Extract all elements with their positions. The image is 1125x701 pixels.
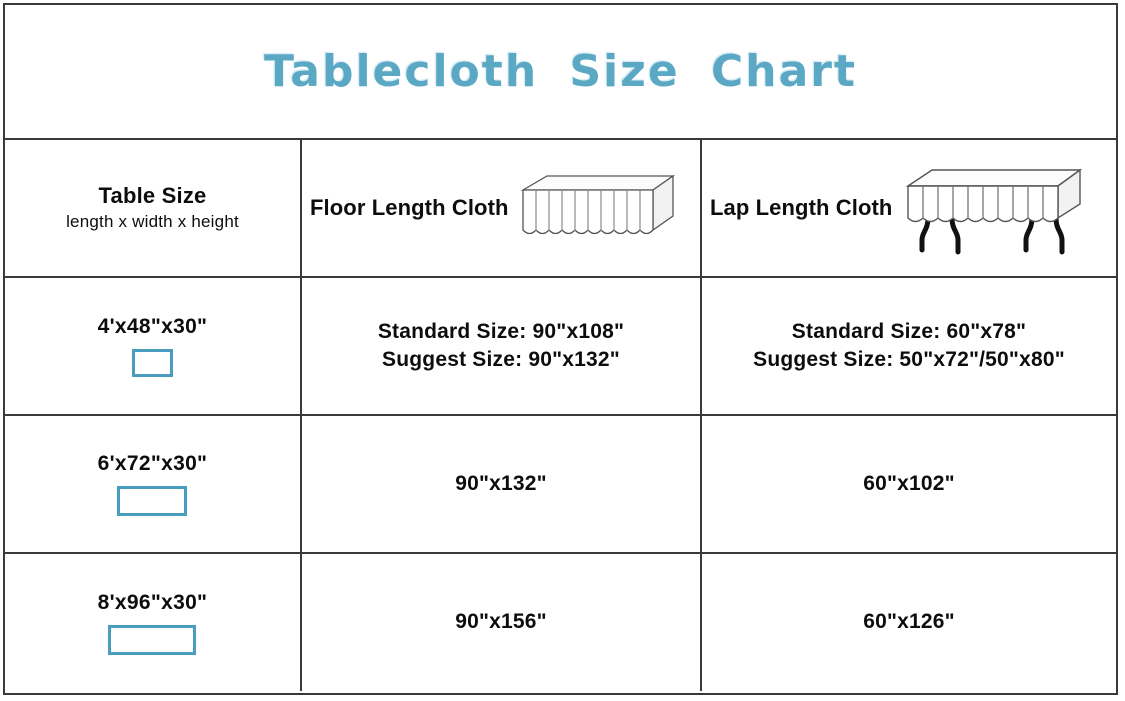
table-row: 8'x96"x30" 90"x156" 60"x126": [5, 554, 1116, 691]
table-header-row: Table Size length x width x height Floor…: [5, 140, 1116, 278]
lap-length-value: 60"x126": [863, 608, 955, 636]
cell-table-size: 8'x96"x30": [5, 554, 302, 691]
page-title: Tablecloth Size Chart: [264, 46, 857, 97]
lap-length-value: Standard Size: 60"x78" Suggest Size: 50"…: [753, 318, 1065, 375]
chart-frame: Tablecloth Size Chart Table Size length …: [3, 3, 1118, 695]
floor-length-value: Standard Size: 90"x108" Suggest Size: 90…: [378, 318, 624, 375]
table-row: 6'x72"x30" 90"x132" 60"x102": [5, 416, 1116, 554]
lap-length-value: 60"x102": [863, 470, 955, 498]
floor-suggest-size: Suggest Size: 90"x132": [378, 346, 624, 374]
lap-length-tablecloth-icon: [900, 160, 1088, 256]
cell-table-size: 4'x48"x30": [5, 278, 302, 414]
cell-lap-length-size: 60"x102": [702, 416, 1116, 552]
lap-suggest-size: Suggest Size: 50"x72"/50"x80": [753, 346, 1065, 374]
header-cell-table-size: Table Size length x width x height: [5, 140, 302, 276]
tablecloth-size-chart-page: Tablecloth Size Chart Table Size length …: [0, 0, 1125, 701]
table-size-stack: 8'x96"x30": [98, 591, 208, 655]
lap-standard-size: 60"x126": [863, 608, 955, 636]
lap-standard-size: Standard Size: 60"x78": [753, 318, 1065, 346]
table-shape-swatch: [108, 625, 196, 655]
floor-standard-size: Standard Size: 90"x108": [378, 318, 624, 346]
floor-length-value: 90"x132": [455, 470, 547, 498]
cell-table-size: 6'x72"x30": [5, 416, 302, 552]
cell-lap-length-size: Standard Size: 60"x78" Suggest Size: 50"…: [702, 278, 1116, 414]
floor-standard-size: 90"x156": [455, 608, 547, 636]
table-size-label: 4'x48"x30": [98, 315, 208, 339]
table-size-label: 6'x72"x30": [98, 452, 208, 476]
title-band: Tablecloth Size Chart: [5, 5, 1116, 140]
floor-length-tablecloth-icon: [517, 168, 679, 248]
table-size-stack: 4'x48"x30": [98, 315, 208, 377]
header-cell-floor-length: Floor Length Cloth: [302, 140, 702, 276]
header-table-size-subtitle: length x width x height: [66, 212, 239, 233]
floor-length-value: 90"x156": [455, 608, 547, 636]
size-table: Table Size length x width x height Floor…: [5, 140, 1116, 693]
cell-floor-length-size: Standard Size: 90"x108" Suggest Size: 90…: [302, 278, 702, 414]
table-size-label: 8'x96"x30": [98, 591, 208, 615]
cell-floor-length-size: 90"x132": [302, 416, 702, 552]
cell-lap-length-size: 60"x126": [702, 554, 1116, 691]
table-shape-swatch: [132, 349, 173, 377]
table-shape-swatch: [117, 486, 187, 516]
header-table-size-title: Table Size: [99, 183, 207, 210]
header-floor-length-label: Floor Length Cloth: [310, 195, 509, 221]
table-size-stack: 6'x72"x30": [98, 452, 208, 516]
lap-standard-size: 60"x102": [863, 470, 955, 498]
header-lap-length-label: Lap Length Cloth: [710, 195, 892, 221]
floor-standard-size: 90"x132": [455, 470, 547, 498]
table-row: 4'x48"x30" Standard Size: 90"x108" Sugge…: [5, 278, 1116, 416]
cell-floor-length-size: 90"x156": [302, 554, 702, 691]
header-cell-lap-length: Lap Length Cloth: [702, 140, 1116, 276]
